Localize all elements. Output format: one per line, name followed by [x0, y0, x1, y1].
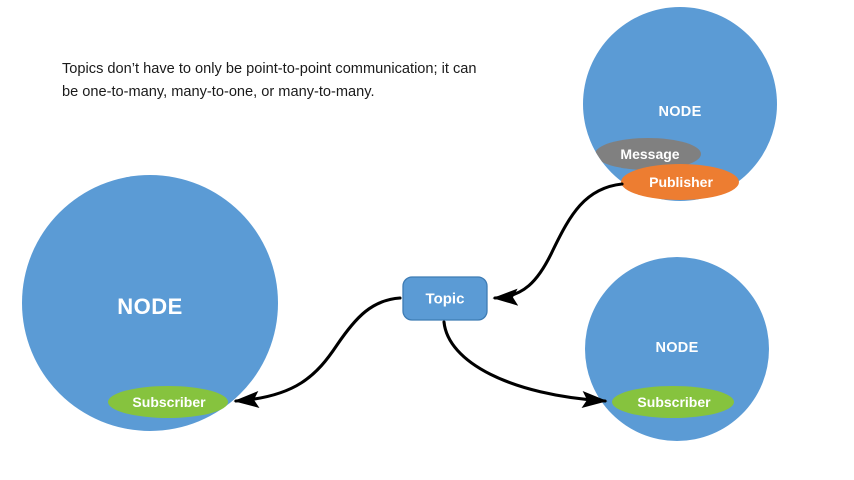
topic-box[interactable] — [403, 277, 487, 320]
subscriber-left-ellipse[interactable] — [108, 386, 228, 418]
arrow-publisher-to-topic — [495, 184, 622, 298]
subscriber-right-ellipse[interactable] — [612, 386, 734, 418]
slide-canvas: Topics don’t have to only be point-to-po… — [0, 0, 854, 480]
publisher-ellipse[interactable] — [621, 164, 739, 200]
caption-text: Topics don’t have to only be point-to-po… — [62, 58, 482, 103]
arrow-topic-to-subscriber-right — [444, 322, 605, 401]
